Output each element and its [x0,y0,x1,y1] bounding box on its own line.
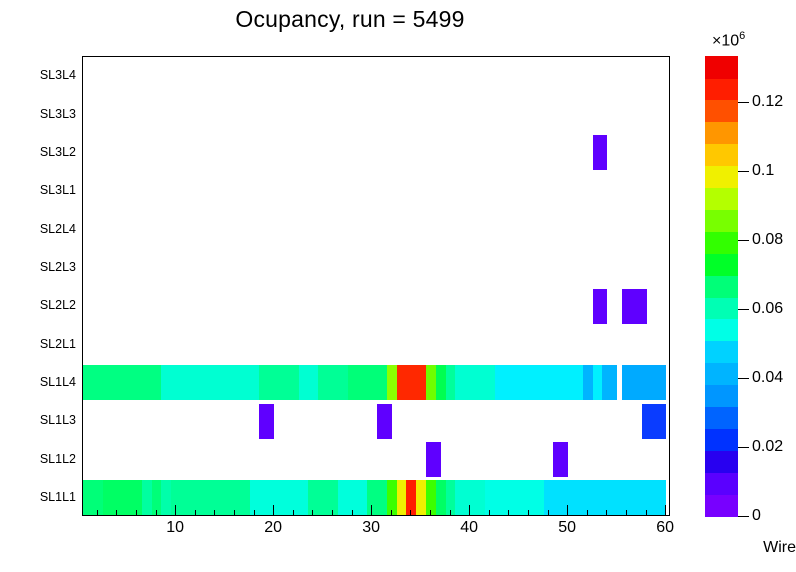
colorbar-band [705,385,738,408]
heatmap-cell [103,480,147,515]
y-axis-label-sl2l2: SL2L2 [40,298,76,312]
colorbar-band [705,209,738,232]
x-axis-tick-label: 40 [460,519,478,537]
colorbar-tick [738,378,749,379]
x-axis-major-tick [567,505,568,516]
x-axis-minor-tick [156,510,157,516]
colorbar-tick [738,309,749,310]
colorbar-band [705,297,738,320]
heatmap-cell [250,480,314,515]
y-axis-label-sl2l4: SL2L4 [40,222,76,236]
x-axis-tick-label: 20 [264,519,282,537]
colorbar-tick [738,240,749,241]
x-axis-major-tick [665,505,666,516]
colorbar-band [705,363,738,386]
heatmap-cell [622,365,666,400]
x-axis-tick-label: 60 [656,519,674,537]
colorbar-tick-label: 0.06 [752,300,783,318]
x-axis-title: Wire [116,539,796,557]
y-axis-label-sl1l3: SL1L3 [40,413,76,427]
colorbar-exponent: ×106 [712,30,745,50]
heatmap-cell [642,404,667,439]
colorbar-tick [738,447,749,448]
colorbar-band [705,341,738,364]
y-axis-label-sl1l2: SL1L2 [40,452,76,466]
x-axis-minor-tick [410,510,411,516]
y-axis-label-sl3l2: SL3L2 [40,145,76,159]
x-axis-minor-tick [528,510,529,516]
colorbar-tick-label: 0 [752,507,761,525]
colorbar-band [705,187,738,210]
colorbar [705,56,738,516]
x-axis-minor-tick [332,510,333,516]
y-axis-label-sl3l4: SL3L4 [40,68,76,82]
colorbar-tick-label: 0.08 [752,231,783,249]
y-axis-label-sl2l1: SL2L1 [40,337,76,351]
x-axis-minor-tick [391,510,392,516]
colorbar-tick [738,171,749,172]
heatmap-cell [602,365,617,400]
x-axis-major-tick [273,505,274,516]
heatmap-cell [485,480,549,515]
colorbar-band [705,78,738,101]
x-axis-minor-tick [254,510,255,516]
x-axis-major-tick [469,505,470,516]
x-axis-minor-tick [136,510,137,516]
heatmap-cell [593,135,608,170]
x-axis-minor-tick [352,510,353,516]
colorbar-tick [738,102,749,103]
heatmap-cell [348,365,392,400]
heatmap-cell [161,365,264,400]
x-axis-minor-tick [116,510,117,516]
x-axis-minor-tick [97,510,98,516]
y-axis-label-sl3l1: SL3L1 [40,183,76,197]
colorbar-tick-label: 0.1 [752,162,774,180]
colorbar-band [705,494,738,517]
colorbar-band [705,56,738,79]
x-axis-minor-tick [606,510,607,516]
x-axis-minor-tick [587,510,588,516]
heatmap-cell [259,404,274,439]
colorbar-band [705,275,738,298]
x-axis-minor-tick [214,510,215,516]
colorbar-band [705,144,738,167]
x-axis-major-tick [175,505,176,516]
page-title: Ocupancy, run = 5499 [0,6,700,33]
x-axis-tick-label: 50 [558,519,576,537]
x-axis-minor-tick [293,510,294,516]
heatmap-cell [171,480,254,515]
x-axis-minor-tick [508,510,509,516]
x-axis-tick-label: 10 [166,519,184,537]
x-axis-tick-label: 30 [362,519,380,537]
heatmap-cell [377,404,392,439]
x-axis-minor-tick [626,510,627,516]
colorbar-band [705,428,738,451]
heatmap-cell [83,365,166,400]
x-axis-minor-tick [489,510,490,516]
colorbar-band [705,450,738,473]
colorbar-tick-label: 0.12 [752,93,783,111]
y-axis-label-sl1l1: SL1L1 [40,490,76,504]
colorbar-exponent-base: ×10 [712,32,739,49]
x-axis-minor-tick [234,510,235,516]
x-axis-minor-tick [646,510,647,516]
heatmap-cell [593,289,608,324]
heatmap-cell [495,365,588,400]
colorbar-band [705,319,738,342]
colorbar-band [705,406,738,429]
x-axis-minor-tick [548,510,549,516]
plot-frame [82,56,670,516]
heatmap-cell [553,442,568,477]
y-axis-label-sl1l4: SL1L4 [40,375,76,389]
colorbar-band [705,253,738,276]
y-axis-label-sl3l3: SL3L3 [40,107,76,121]
x-axis-minor-tick [450,510,451,516]
heatmap-cell [544,480,667,515]
colorbar-band [705,231,738,254]
x-axis-minor-tick [312,510,313,516]
colorbar-band [705,472,738,495]
x-axis-major-tick [371,505,372,516]
colorbar-band [705,122,738,145]
root-canvas: Ocupancy, run = 5499 SL1L1SL1L2SL1L3SL1L… [0,0,796,572]
heatmap-cell [259,365,303,400]
colorbar-tick-label: 0.04 [752,369,783,387]
colorbar-tick-label: 0.02 [752,438,783,456]
y-axis-labels: SL1L1SL1L2SL1L3SL1L4SL2L1SL2L2SL2L3SL2L4… [0,56,76,516]
heatmap-plot-area [83,57,669,515]
heatmap-cell [622,289,647,324]
colorbar-tick [738,516,749,517]
heatmap-cell [455,365,499,400]
x-axis-minor-tick [195,510,196,516]
y-axis-label-sl2l3: SL2L3 [40,260,76,274]
colorbar-band [705,166,738,189]
heatmap-cell [426,442,441,477]
x-axis-minor-tick [430,510,431,516]
colorbar-exponent-power: 6 [739,30,745,42]
colorbar-band [705,100,738,123]
